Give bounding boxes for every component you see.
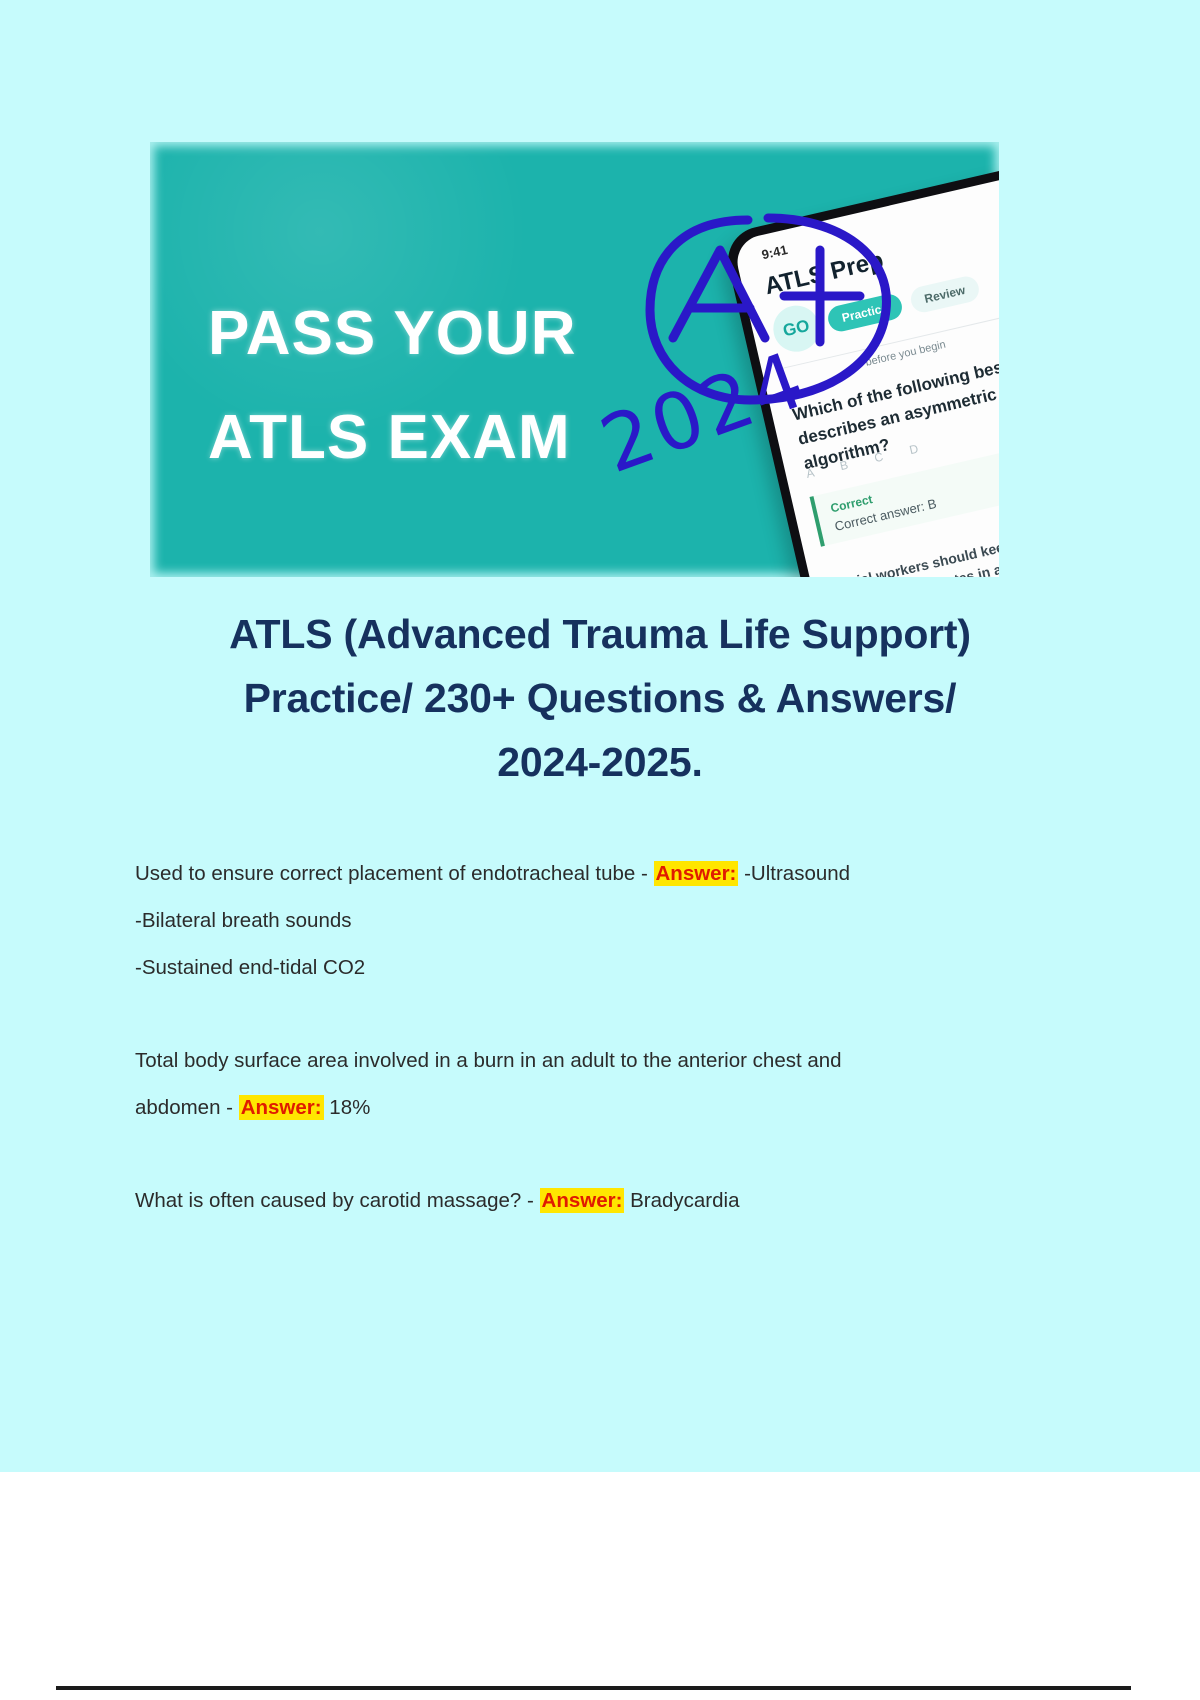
phone-tab-practice[interactable]: Practice — [826, 292, 905, 334]
page-title-line2: Practice/ 230+ Questions & Answers/ — [120, 666, 1080, 730]
answer-label: Answer: — [654, 861, 739, 886]
qa-line: Used to ensure correct placement of endo… — [135, 850, 995, 897]
page-title-line1: ATLS (Advanced Trauma Life Support) — [120, 602, 1080, 666]
page-title-line3: 2024-2025. — [120, 730, 1080, 794]
qa-line: What is often caused by carotid massage?… — [135, 1177, 995, 1224]
qa-text-after: 18% — [324, 1096, 371, 1119]
qa-group: Total body surface area involved in a bu… — [135, 1037, 995, 1131]
qa-text-before: What is often caused by carotid massage?… — [135, 1189, 540, 1212]
qa-line: abdomen - Answer: 18% — [135, 1084, 995, 1131]
qa-text-before: abdomen - — [135, 1096, 239, 1119]
banner-headline-line1: PASS YOUR — [208, 299, 576, 368]
qa-line: -Sustained end-tidal CO2 — [135, 944, 995, 991]
qa-text-after: -Ultrasound — [738, 862, 850, 885]
qa-group: Used to ensure correct placement of endo… — [135, 850, 995, 991]
document-page: 9:41 ATLS Prep GO Practice Review • befo… — [0, 0, 1200, 1472]
phone-meta-text: • before you begin — [858, 339, 947, 371]
phone-tab-review[interactable]: Review — [908, 274, 981, 315]
qa-text-before: -Bilateral breath sounds — [135, 909, 352, 932]
page-title: ATLS (Advanced Trauma Life Support) Prac… — [120, 602, 1080, 794]
phone-status-time: 9:41 — [760, 242, 789, 262]
footer-divider — [56, 1686, 1131, 1690]
banner-image: 9:41 ATLS Prep GO Practice Review • befo… — [150, 142, 999, 577]
qa-group: What is often caused by carotid massage?… — [135, 1177, 995, 1224]
qa-line: Total body surface area involved in a bu… — [135, 1037, 995, 1084]
page-lower-white-area — [0, 1472, 1200, 1700]
answer-label: Answer: — [540, 1188, 625, 1213]
qa-line: -Bilateral breath sounds — [135, 897, 995, 944]
qa-text-before: Used to ensure correct placement of endo… — [135, 862, 654, 885]
qa-text-after: Bradycardia — [624, 1189, 739, 1212]
qa-text-before: -Sustained end-tidal CO2 — [135, 956, 365, 979]
qa-text-before: Total body surface area involved in a bu… — [135, 1049, 842, 1072]
banner-headline-line2: ATLS EXAM — [208, 386, 576, 490]
answer-label: Answer: — [239, 1095, 324, 1120]
qa-content: Used to ensure correct placement of endo… — [135, 850, 995, 1224]
banner-headline: PASS YOUR ATLS EXAM — [208, 282, 576, 490]
